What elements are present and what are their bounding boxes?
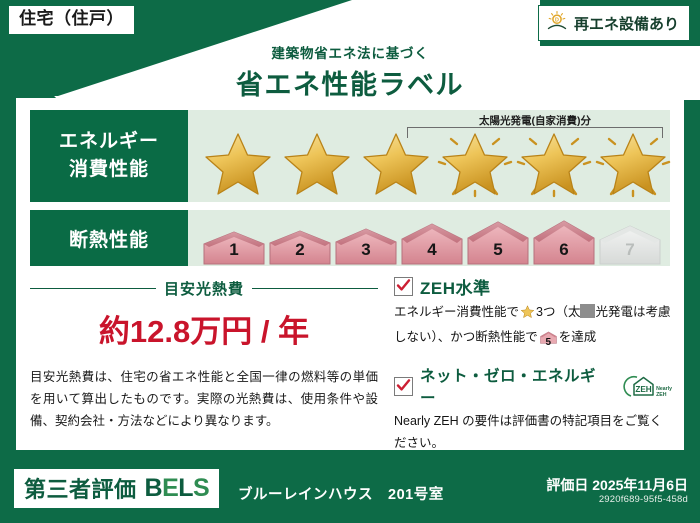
zeh-logo-sub-line2: ZEH <box>656 392 666 398</box>
insulation-house-icon-number: 5 <box>540 334 557 351</box>
insulation-level-number: 1 <box>202 240 266 260</box>
star-rating <box>200 128 671 198</box>
insulation-level-number: 3 <box>334 240 398 260</box>
star-icon <box>200 128 276 198</box>
insulation-performance-label: 断熱性能 <box>30 210 188 266</box>
net-zero-title: ネット・ゼロ・エネルギー <box>420 364 610 408</box>
star-solar-icon <box>516 128 592 198</box>
title-block: 建築物省エネ法に基づく 省エネ性能ラベル <box>0 42 700 102</box>
star-solar-icon <box>437 128 513 198</box>
zeh-text-part1: エネルギー消費性能で <box>394 305 519 319</box>
checkbox-checked-icon <box>394 277 413 296</box>
title-subtitle: 建築物省エネ法に基づく <box>0 42 700 62</box>
zeh-text-part3: 光発電 <box>595 305 633 319</box>
zeh-block: ZEH水準 エネルギー消費性能で3つ（太光発電は考慮しない）、かつ断熱性能で5を… <box>394 274 672 460</box>
star-icon <box>279 128 355 198</box>
zeh-text-part5: を達成 <box>559 330 597 344</box>
insulation-house-icon-inline: 5 <box>540 330 557 353</box>
insulation-performance-row: 断熱性能 <box>30 210 670 266</box>
net-zero-text: Nearly ZEH の要件は評価書の特記項目をご覧ください。 <box>394 411 672 454</box>
evaluation-date: 評価日 2025年11月6日 <box>546 475 688 495</box>
insulation-level-number: 5 <box>466 240 530 260</box>
insulation-level-house: 1 <box>202 226 266 266</box>
solar-caption: 太陽光発電(自家消費)分 <box>407 113 663 128</box>
checkbox-checked-icon <box>394 377 413 396</box>
building-name: ブルーレインハウス 201号室 <box>238 483 444 504</box>
bels-logo-jp: 第三者評価 <box>24 472 137 504</box>
heading-rule-right <box>252 288 378 290</box>
insulation-level-house: 3 <box>334 224 398 266</box>
utility-cost-block: 目安光熱費 約12.8万円 / 年 目安光熱費は、住宅の省エネ性能と全国一律の燃… <box>30 274 378 433</box>
insulation-level-house-inactive: 7 <box>598 222 662 266</box>
insulation-level-house: 4 <box>400 220 464 266</box>
solar-sun-icon: D <box>546 10 568 37</box>
zeh-text-part2: 3つ（太 <box>536 305 580 319</box>
star-solar-icon <box>595 128 671 198</box>
heading-rule-left <box>30 288 156 290</box>
label-card: エネルギー 消費性能 太陽光発電(自家消費)分 <box>16 98 684 450</box>
bels-letter: S <box>193 474 209 502</box>
utility-cost-note: 目安光熱費は、住宅の省エネ性能と全国一律の燃料等の単価を用いて算出したものです。… <box>30 367 378 433</box>
energy-label-line2: 消費性能 <box>69 156 149 184</box>
insulation-level-number: 6 <box>532 240 596 260</box>
zeh-standard-text: エネルギー消費性能で3つ（太光発電は考慮しない）、かつ断熱性能で5を達成 <box>394 302 672 352</box>
utility-cost-value: 約12.8万円 / 年 <box>30 306 378 351</box>
svg-text:D: D <box>555 17 559 23</box>
renewable-equipment-badge: D 再エネ設備あり <box>538 5 690 41</box>
star-icon <box>358 128 434 198</box>
zeh-standard-block: ZEH水準 エネルギー消費性能で3つ（太光発電は考慮しない）、かつ断熱性能で5を… <box>394 274 672 352</box>
insulation-scale: 1 2 3 <box>202 210 662 266</box>
zeh-logo-icon: ZEH Nearly ZEH <box>621 374 672 398</box>
bels-letter: E <box>162 474 178 502</box>
zeh-standard-title: ZEH水準 <box>420 274 491 299</box>
insulation-level-house: 6 <box>532 218 596 266</box>
bels-logo: 第三者評価 BELS <box>14 469 219 508</box>
star-icon-inline <box>520 304 535 327</box>
energy-rating-area: 太陽光発電(自家消費)分 <box>188 110 670 202</box>
renewable-badge-label: 再エネ設備あり <box>574 13 679 34</box>
evaluation-id: 2920f689-95f5-458d <box>599 494 688 505</box>
zeh-standard-heading: ZEH水準 <box>394 274 672 299</box>
insulation-level-number: 2 <box>268 240 332 260</box>
net-zero-block: ネット・ゼロ・エネルギー ZEH Nearly ZEH <box>394 364 672 454</box>
utility-cost-heading-text: 目安光熱費 <box>164 278 244 299</box>
footer-bar: 第三者評価 BELS ブルーレインハウス 201号室 評価日 2025年11月6… <box>0 457 700 523</box>
insulation-level-house: 5 <box>466 219 530 266</box>
energy-label-root: 住宅（住戸） D 再エネ設備あり 建築物省エネ法に基づく 省エネ性能ラベル <box>0 0 700 523</box>
svg-text:ZEH: ZEH <box>635 385 651 394</box>
bels-logo-en: BELS <box>145 474 210 503</box>
energy-performance-row: エネルギー 消費性能 太陽光発電(自家消費)分 <box>30 110 670 202</box>
energy-performance-label: エネルギー 消費性能 <box>30 110 188 202</box>
zeh-logo-sub: Nearly ZEH <box>656 387 672 398</box>
bels-letter: B <box>145 474 163 502</box>
energy-label-line1: エネルギー <box>59 128 159 156</box>
insulation-level-house: 2 <box>268 225 332 266</box>
net-zero-heading: ネット・ゼロ・エネルギー ZEH Nearly ZEH <box>394 364 672 408</box>
lower-section: 目安光熱費 約12.8万円 / 年 目安光熱費は、住宅の省エネ性能と全国一律の燃… <box>16 274 684 442</box>
bels-letter: L <box>178 474 193 502</box>
dwelling-type-tag: 住宅（住戸） <box>8 5 135 35</box>
insulation-rating-area: 1 2 3 <box>188 210 670 266</box>
insulation-level-number: 4 <box>400 240 464 260</box>
redaction-block <box>580 304 595 318</box>
insulation-level-number: 7 <box>598 240 662 260</box>
utility-cost-heading: 目安光熱費 <box>30 278 378 299</box>
title-main: 省エネ性能ラベル <box>0 63 700 102</box>
